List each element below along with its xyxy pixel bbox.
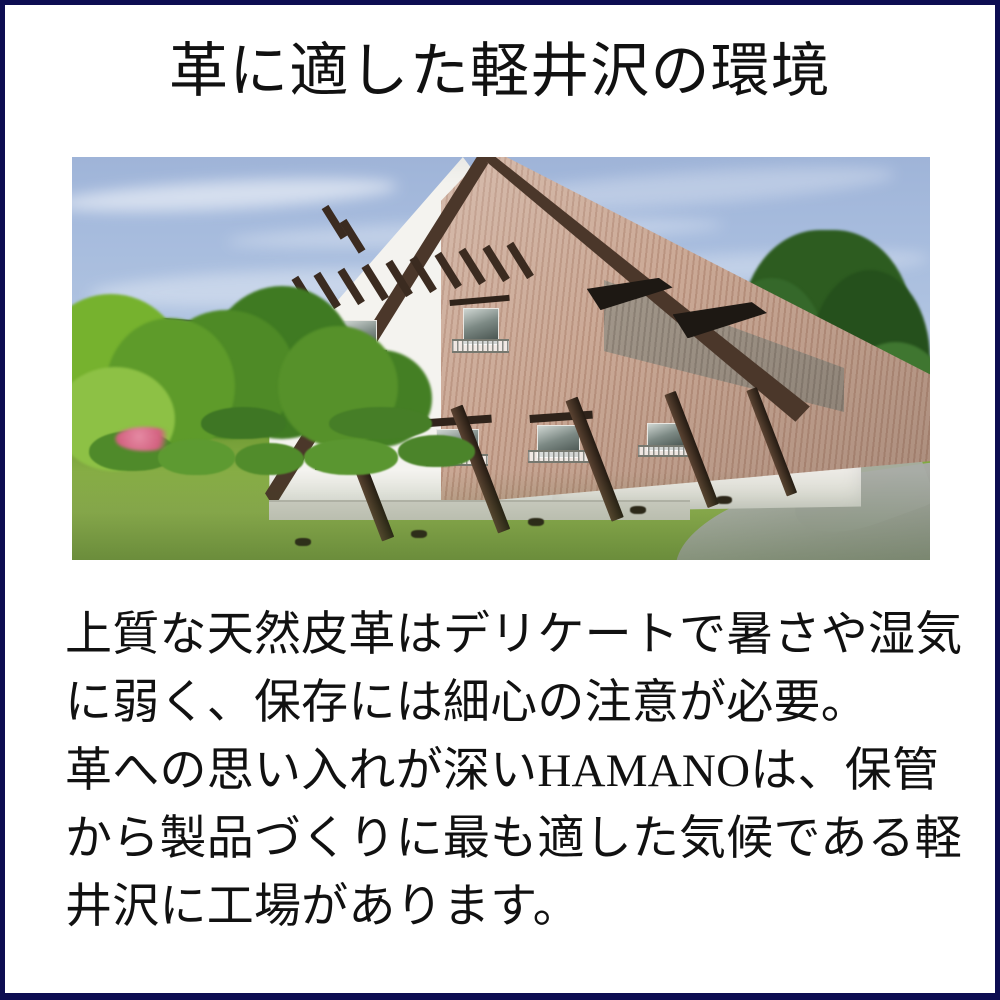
page-root: 革に適した軽井沢の環境 <box>0 0 1000 1000</box>
factory-photo <box>72 157 930 560</box>
body-line: に弱く、保存には細心の注意が必要。 <box>65 669 945 737</box>
lawn-foreground-shadow <box>72 471 930 560</box>
balcony-railing <box>528 450 590 463</box>
page-title: 革に適した軽井沢の環境 <box>5 41 995 103</box>
body-line: 上質な天然皮革はデリケートで暑さや湿気 <box>65 601 945 669</box>
balcony-railing <box>452 339 509 353</box>
body-line: から製品づくりに最も適した気候である軽 <box>65 805 945 873</box>
shrub <box>329 407 432 439</box>
body-line: 革への思い入れが深いHAMANOは、保管 <box>65 737 945 805</box>
body-line: 井沢に工場があります。 <box>65 873 945 941</box>
flowering-shrub <box>115 427 175 451</box>
roof-shading <box>441 157 930 520</box>
shrub <box>398 435 475 467</box>
shrub <box>304 439 398 475</box>
body-copy: 上質な天然皮革はデリケートで暑さや湿気 に弱く、保存には細心の注意が必要。 革へ… <box>65 601 945 941</box>
shrub <box>201 407 287 439</box>
